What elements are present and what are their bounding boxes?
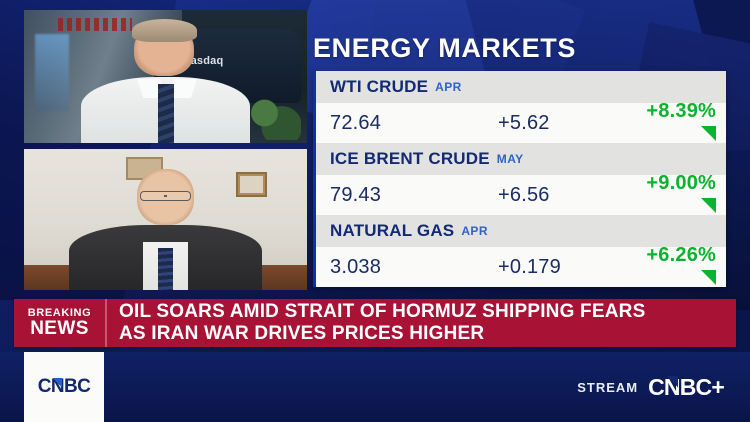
stream-label: STREAM bbox=[577, 380, 638, 395]
table-row-header[interactable]: WTI CRUDE APR bbox=[316, 71, 726, 103]
markets-header: ENERGY MARKETS bbox=[313, 26, 726, 70]
percent-change: +9.00% bbox=[628, 172, 716, 218]
energy-markets-table: WTI CRUDE APR 72.64 +5.62 +8.39% ICE BRE… bbox=[313, 71, 726, 287]
instrument-name: ICE BRENT CRUDE bbox=[330, 149, 490, 169]
guest-eyeglasses bbox=[140, 191, 191, 201]
table-row[interactable]: 79.43 +6.56 +9.00% bbox=[316, 175, 726, 215]
studio-background: Nasdaq bbox=[24, 10, 307, 143]
guest-necktie bbox=[158, 248, 172, 290]
video-panel-guest[interactable] bbox=[24, 149, 307, 290]
contract-month: APR bbox=[461, 224, 488, 238]
anchor-hair bbox=[132, 19, 197, 42]
instrument-name: WTI CRUDE bbox=[330, 77, 428, 97]
arrow-up-icon bbox=[701, 126, 716, 141]
headline-line-1: OIL SOARS AMID STRAIT OF HORMUZ SHIPPING… bbox=[119, 301, 736, 323]
video-panel-anchor[interactable]: Nasdaq bbox=[24, 10, 307, 143]
headline-block: OIL SOARS AMID STRAIT OF HORMUZ SHIPPING… bbox=[107, 299, 736, 347]
percent-change: +8.39% bbox=[628, 100, 716, 146]
anchor-necktie bbox=[158, 84, 174, 143]
cnbc-logo[interactable]: CNBC bbox=[24, 352, 104, 422]
studio-screen-glow bbox=[35, 34, 69, 111]
headline-line-2: AS IRAN WAR DRIVES PRICES HIGHER bbox=[119, 323, 736, 345]
last-price: 72.64 bbox=[330, 112, 498, 135]
arrow-up-icon bbox=[701, 270, 716, 285]
table-row[interactable]: 3.038 +0.179 +6.26% bbox=[316, 247, 726, 287]
last-price: 79.43 bbox=[330, 184, 498, 207]
picture-frame bbox=[236, 172, 267, 197]
percent-change: +6.26% bbox=[628, 244, 716, 290]
instrument-name: NATURAL GAS bbox=[330, 221, 454, 241]
badge-label-news: NEWS bbox=[30, 319, 89, 339]
table-row-header[interactable]: NATURAL GAS APR bbox=[316, 215, 726, 247]
footer-bar: CNBC STREAM CNBC+ bbox=[0, 352, 750, 422]
picture-frame-inner bbox=[240, 176, 263, 193]
cnbc-plus-peacock-icon bbox=[667, 376, 678, 388]
table-row-header[interactable]: ICE BRENT CRUDE MAY bbox=[316, 143, 726, 175]
table-row[interactable]: 72.64 +5.62 +8.39% bbox=[316, 103, 726, 143]
last-price: 3.038 bbox=[330, 256, 498, 279]
ticker-board bbox=[58, 18, 132, 31]
cnbc-logo-text: CNBC bbox=[38, 376, 91, 398]
guest-background bbox=[24, 149, 307, 290]
contract-month: MAY bbox=[497, 152, 524, 166]
cnbc-peacock-icon bbox=[53, 378, 62, 388]
panel-title: ENERGY MARKETS bbox=[313, 33, 576, 64]
price-change: +5.62 bbox=[498, 112, 628, 135]
stream-promo[interactable]: STREAM CNBC+ bbox=[577, 352, 724, 422]
broadcast-screen: Nasdaq ENERGY MARKETS bbox=[0, 0, 750, 422]
cnbc-plus-logo-text: CNBC+ bbox=[648, 374, 724, 401]
arrow-up-icon bbox=[701, 198, 716, 213]
price-change: +0.179 bbox=[498, 256, 628, 279]
breaking-news-badge: BREAKING NEWS bbox=[14, 299, 107, 347]
contract-month: APR bbox=[435, 80, 462, 94]
breaking-news-banner: BREAKING NEWS OIL SOARS AMID STRAIT OF H… bbox=[14, 299, 736, 347]
price-change: +6.56 bbox=[498, 184, 628, 207]
